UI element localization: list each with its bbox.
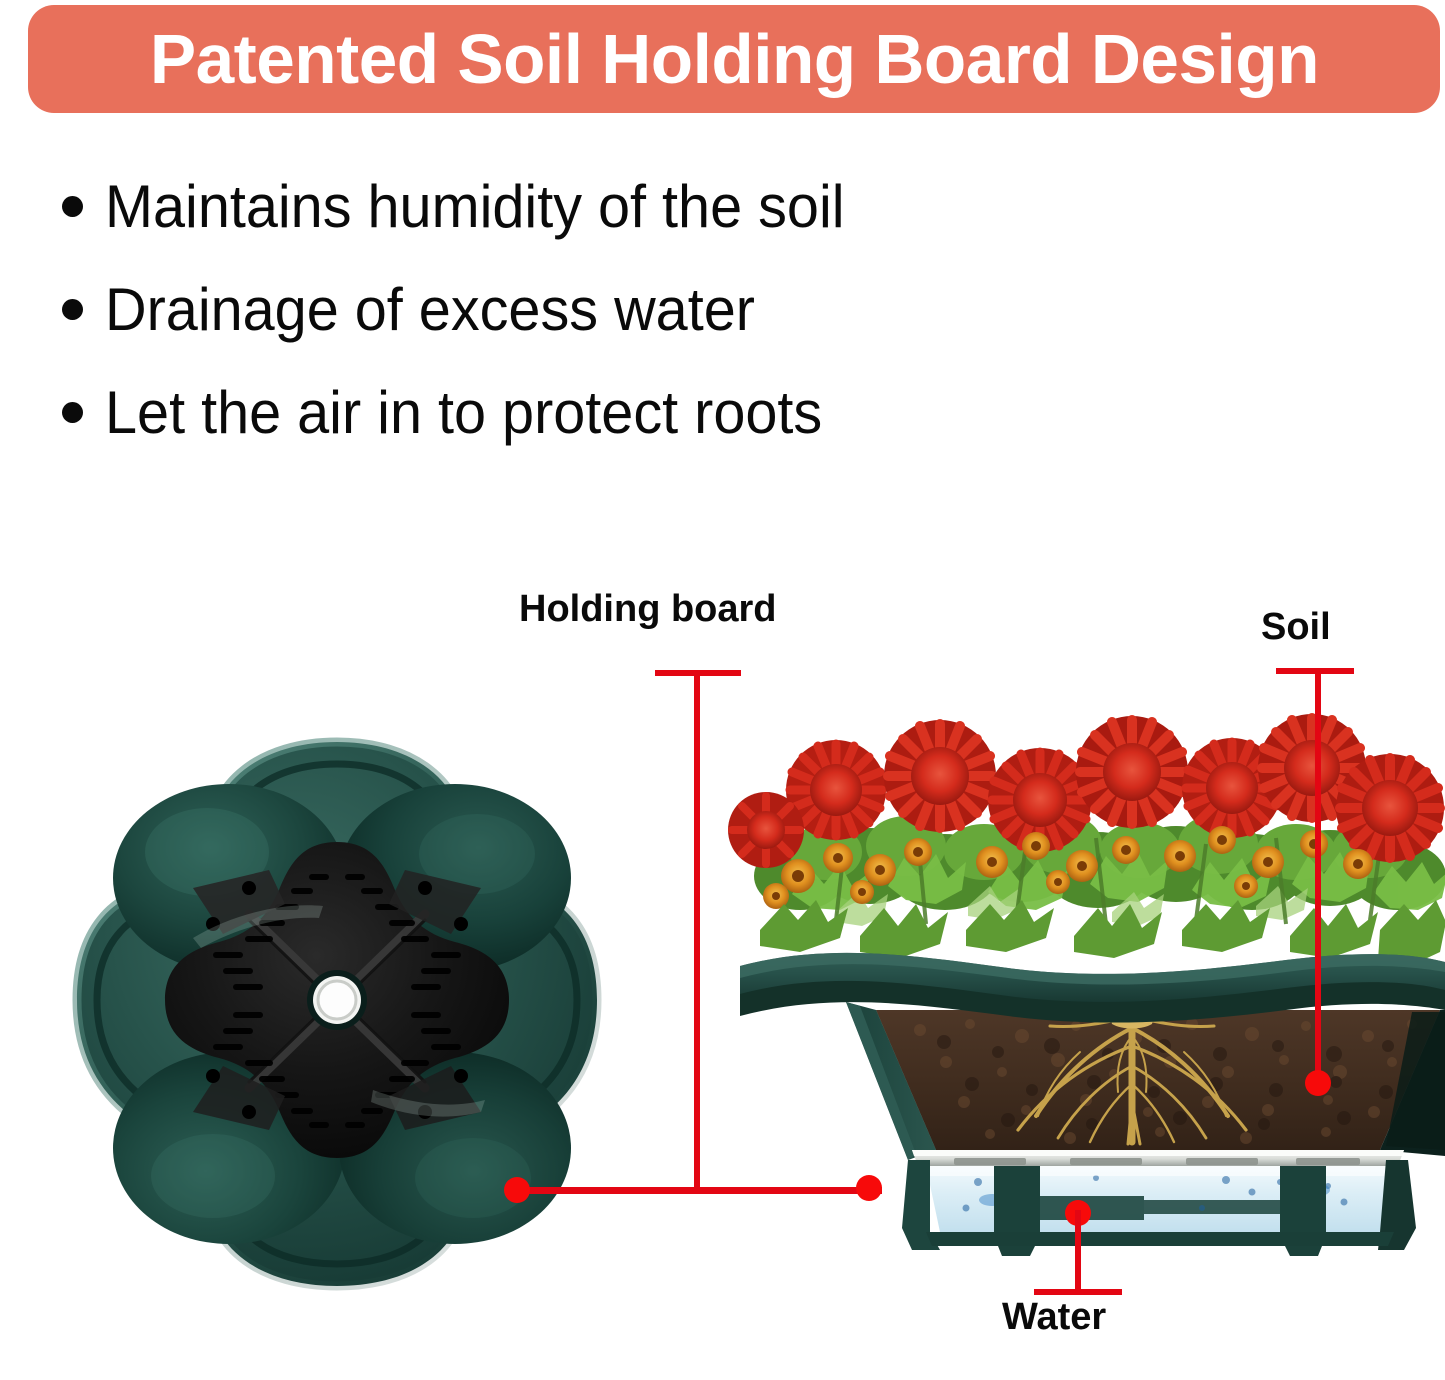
feature-label: Let the air in to protect roots xyxy=(105,383,822,443)
page-title: Patented Soil Holding Board Design xyxy=(149,24,1318,94)
center-drain-hole xyxy=(307,970,367,1030)
pot-body xyxy=(740,953,1445,1256)
leader-stem-holding-board xyxy=(694,670,700,1190)
leader-stem-soil xyxy=(1315,668,1321,1083)
leader-dot-holding-board-right xyxy=(856,1175,882,1201)
leader-run-holding-board xyxy=(516,1187,882,1194)
holding-board-insert xyxy=(165,842,509,1158)
callout-label-water: Water xyxy=(1002,1298,1106,1336)
callout-label-soil: Soil xyxy=(1261,608,1331,646)
list-item: Let the air in to protect roots xyxy=(62,361,1112,464)
planter-cutaway xyxy=(740,680,1445,1380)
feature-label: Drainage of excess water xyxy=(105,280,755,340)
feature-label: Maintains humidity of the soil xyxy=(105,177,845,237)
leader-dot-holding-board-left xyxy=(504,1177,530,1203)
callout-label-holding-board: Holding board xyxy=(519,590,777,628)
list-item: Maintains humidity of the soil xyxy=(62,155,1112,258)
bullet-dot-icon xyxy=(62,402,83,423)
leader-cap-water xyxy=(1034,1289,1122,1295)
page-header-banner: Patented Soil Holding Board Design xyxy=(28,5,1440,113)
leader-stem-water xyxy=(1075,1210,1081,1295)
product-diagram: Holding board Soil Water xyxy=(0,560,1445,1358)
list-item: Drainage of excess water xyxy=(62,258,1112,361)
soil-holding-board-top-view xyxy=(73,738,601,1290)
feature-list: Maintains humidity of the soil Drainage … xyxy=(62,155,1112,464)
leader-dot-soil xyxy=(1305,1070,1331,1096)
bullet-dot-icon xyxy=(62,299,83,320)
bullet-dot-icon xyxy=(62,196,83,217)
